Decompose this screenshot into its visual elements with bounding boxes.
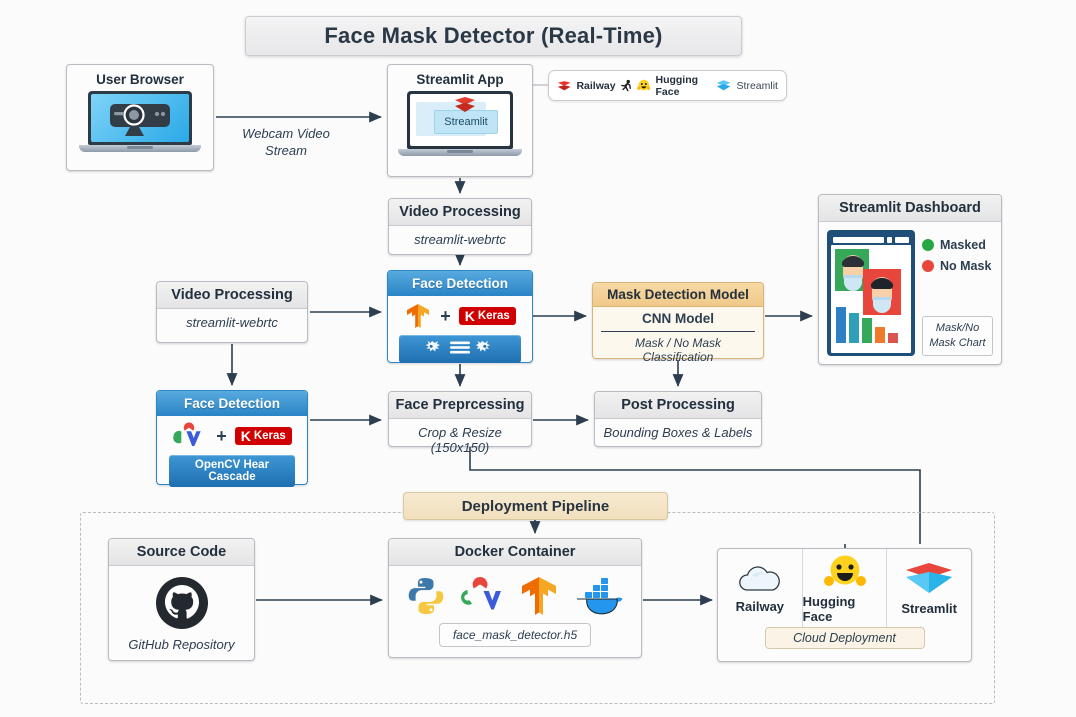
masked-dot-icon: [922, 239, 934, 251]
edge-label-webcam: Webcam Video Stream: [222, 126, 350, 160]
source-code-title: Source Code: [109, 539, 254, 566]
node-streamlit-dashboard: Streamlit Dashboard: [818, 194, 1002, 365]
node-mask-detection-model: Mask Detection Model CNN Model Mask / No…: [592, 282, 764, 359]
legend-item-masked: Masked: [922, 238, 993, 252]
cloud-provider-railway: Railway: [718, 549, 802, 627]
post-processing-title: Post Processing: [595, 392, 761, 419]
laptop-streamlit-icon: Streamlit: [407, 91, 513, 156]
badge-label-hugging-face: Hugging Face: [655, 74, 711, 98]
page-title: Face Mask Detector (Real-Time): [245, 16, 742, 56]
mask-model-title: Mask Detection Model: [593, 283, 763, 307]
tensorflow-icon: [518, 574, 560, 618]
cloud-label-streamlit: Streamlit: [901, 601, 957, 616]
hugging-face-icon: [637, 77, 651, 94]
edge-label-webcam-line2: Stream: [222, 143, 350, 160]
streamlit-screen-label: Streamlit: [444, 116, 487, 128]
source-code-subtitle: GitHub Repository: [128, 637, 234, 652]
opencv-cascade-label: OpenCV Hear Cascade: [169, 455, 296, 487]
mask-model-middle: CNN Model: [601, 307, 755, 332]
no-mask-dot-icon: [922, 260, 934, 272]
mask-chart-label-line1: Mask/No: [925, 321, 990, 336]
cloud-icon: [734, 562, 786, 596]
cloud-deployment-badge: Cloud Deployment: [765, 627, 925, 649]
cloud-provider-streamlit: Streamlit: [886, 549, 971, 627]
docker-icon: [571, 574, 625, 618]
node-video-processing-main: Video Processing streamlit-webrtc: [388, 198, 532, 255]
node-cloud-deployment: Railway Hugging Face Streamlit: [717, 548, 972, 662]
node-post-processing: Post Processing Bounding Boxes & Labels: [594, 391, 762, 447]
face-detection-alt-title: Face Detection: [157, 391, 307, 416]
cloud-provider-hugging-face: Hugging Face: [802, 549, 887, 627]
face-detection-main-title: Face Detection: [388, 271, 532, 296]
plus-symbol: +: [440, 306, 451, 327]
mask-chart-label-line2: Mask Chart: [925, 336, 990, 351]
streamlit-icon: [903, 560, 955, 598]
tensorflow-icon: [404, 302, 432, 330]
edge-label-webcam-line1: Webcam Video: [222, 126, 350, 143]
post-processing-subtitle: Bounding Boxes & Labels: [595, 419, 761, 446]
cloud-label-hugging-face: Hugging Face: [803, 594, 887, 624]
face-scan-icons: [399, 335, 520, 363]
node-docker-container: Docker Container: [388, 538, 642, 658]
node-face-detection-main: Face Detection + K Keras: [387, 270, 533, 363]
video-processing-main-subtitle: streamlit-webrtc: [389, 226, 531, 253]
video-processing-alt-title: Video Processing: [157, 282, 307, 309]
legend-label-masked: Masked: [940, 238, 986, 252]
streamlit-icon: [716, 78, 731, 93]
keras-label: Keras: [478, 310, 510, 322]
docker-artifact-label: face_mask_detector.h5: [439, 623, 591, 647]
keras-k-letter: K: [465, 309, 475, 323]
legend-label-no-mask: No Mask: [940, 259, 991, 273]
dashboard-title: Streamlit Dashboard: [819, 195, 1001, 222]
runner-icon: [621, 78, 632, 93]
mask-model-subtitle: Mask / No Mask Classification: [593, 332, 763, 370]
opencv-icon: [458, 575, 506, 617]
opencv-icon: [172, 421, 208, 451]
keras-k-letter: K: [241, 429, 251, 443]
cloud-label-railway: Railway: [736, 599, 784, 614]
mask-chart-label: Mask/No Mask Chart: [922, 316, 993, 356]
video-processing-main-title: Video Processing: [389, 199, 531, 226]
masked-faces-illustration: [831, 245, 911, 353]
user-browser-label: User Browser: [67, 65, 213, 87]
badge-label-streamlit: Streamlit: [737, 80, 778, 92]
node-streamlit-app: Streamlit App Streamlit: [387, 64, 533, 177]
platform-badge-bar: Railway Hugging Face Streamlit: [548, 70, 787, 101]
plus-symbol: +: [216, 426, 227, 447]
deployment-pipeline-label: Deployment Pipeline: [403, 492, 668, 520]
laptop-webcam-icon: [88, 91, 192, 152]
badge-label-railway: Railway: [576, 80, 615, 92]
node-face-preprocessing: Face Preprcessing Crop & Resize (150x150…: [388, 391, 532, 447]
github-icon: [154, 575, 210, 631]
python-icon: [405, 575, 447, 617]
legend-item-no-mask: No Mask: [922, 259, 993, 273]
node-video-processing-alt: Video Processing streamlit-webrtc: [156, 281, 308, 343]
face-preprocessing-subtitle: Crop & Resize (150x150): [389, 419, 531, 461]
keras-badge: K Keras: [459, 307, 516, 325]
node-user-browser: User Browser: [66, 64, 214, 171]
keras-label: Keras: [254, 430, 286, 442]
face-preprocessing-title: Face Preprcessing: [389, 392, 531, 419]
railway-icon: [557, 79, 571, 93]
streamlit-icon: [454, 96, 476, 114]
streamlit-app-label: Streamlit App: [388, 65, 532, 87]
docker-container-title: Docker Container: [389, 539, 641, 566]
video-processing-alt-subtitle: streamlit-webrtc: [157, 309, 307, 336]
node-source-code: Source Code GitHub Repository: [108, 538, 255, 661]
dashboard-preview-icon: [827, 230, 915, 356]
node-face-detection-alt: Face Detection + K Keras OpenCV Hear Cas…: [156, 390, 308, 485]
keras-badge: K Keras: [235, 427, 292, 445]
hugging-face-icon: [823, 553, 867, 591]
